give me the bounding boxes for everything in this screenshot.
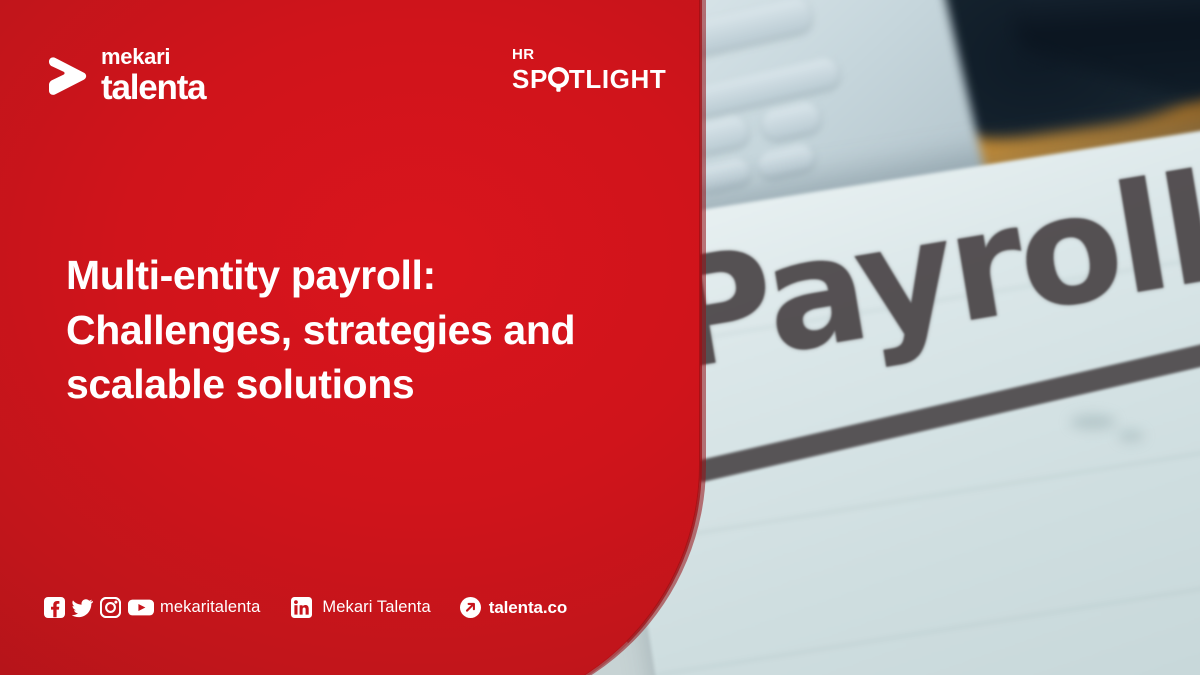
arrow-up-right-circle-icon[interactable] — [460, 597, 481, 618]
title-line-1: Multi-entity payroll: — [66, 248, 666, 303]
website-label: talenta.co — [489, 598, 567, 618]
banner-canvas: Payroll mekari talenta HR SP — [0, 0, 1200, 675]
linkedin-group[interactable]: Mekari Talenta — [291, 597, 430, 618]
linkedin-label: Mekari Talenta — [322, 598, 430, 617]
facebook-icon[interactable] — [44, 597, 65, 618]
mekari-talenta-logo[interactable]: mekari talenta — [44, 46, 205, 105]
spotlight-wordmark: SP TLIGHT — [512, 64, 666, 95]
linkedin-icon[interactable] — [291, 597, 312, 618]
instagram-icon[interactable] — [100, 597, 121, 618]
title-line-2: Challenges, strategies and — [66, 303, 666, 358]
hr-spotlight-badge: HR SP TLIGHT — [512, 46, 666, 95]
brand-name-talenta: talenta — [101, 70, 205, 105]
twitter-icon[interactable] — [72, 597, 93, 618]
spotlight-text-before: SP — [512, 64, 548, 95]
social-icon-group — [44, 597, 149, 618]
page-title: Multi-entity payroll: Challenges, strate… — [66, 248, 666, 412]
spotlight-o-icon — [548, 67, 569, 92]
spotlight-text-after: TLIGHT — [569, 64, 666, 95]
footer-social-bar: mekaritalenta Mekari Talenta — [44, 597, 567, 618]
mekari-chevron-icon — [44, 55, 90, 97]
youtube-icon[interactable] — [128, 597, 149, 618]
content-layer: mekari talenta HR SP TLIGHT Multi-entity… — [0, 0, 1200, 675]
title-line-3: scalable solutions — [66, 357, 666, 412]
website-group[interactable]: talenta.co — [460, 597, 567, 618]
hr-kicker-label: HR — [512, 46, 534, 63]
brand-name-mekari: mekari — [101, 46, 205, 68]
social-handle-label: mekaritalenta — [160, 598, 260, 617]
